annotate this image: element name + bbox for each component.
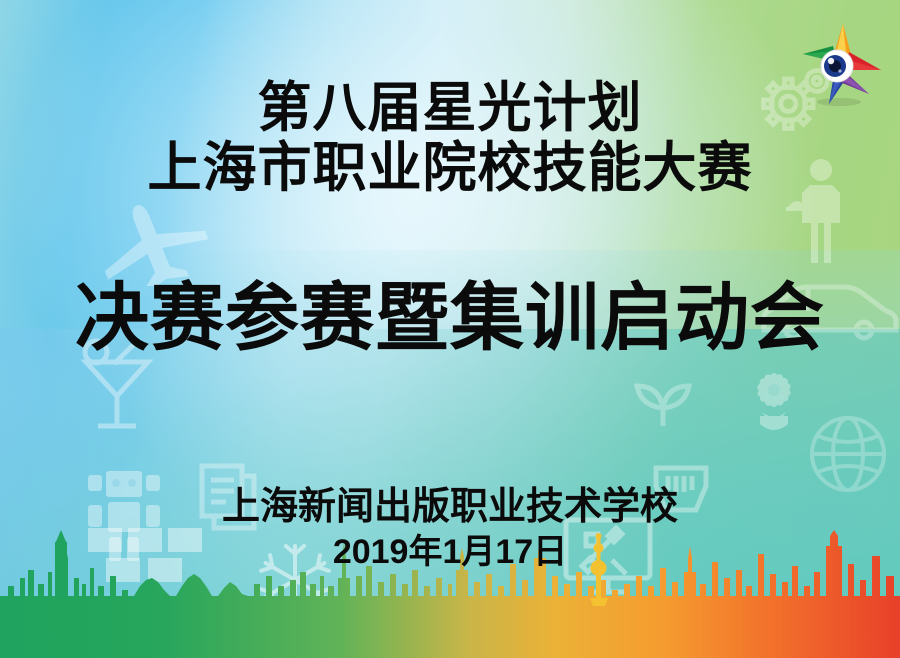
organization-name: 上海新闻出版职业技术学校 [0,487,900,529]
event-headline: 决赛参赛暨集训启动会 [0,278,900,358]
event-date: 2019年1月17日 [0,534,900,571]
poster-canvas: 第八届星光计划 上海市职业院校技能大赛 决赛参赛暨集训启动会 上海新闻出版职业技… [0,0,900,658]
title-line-1: 第八届星光计划 [0,80,900,137]
title-line-2: 上海市职业院校技能大赛 [0,140,900,197]
